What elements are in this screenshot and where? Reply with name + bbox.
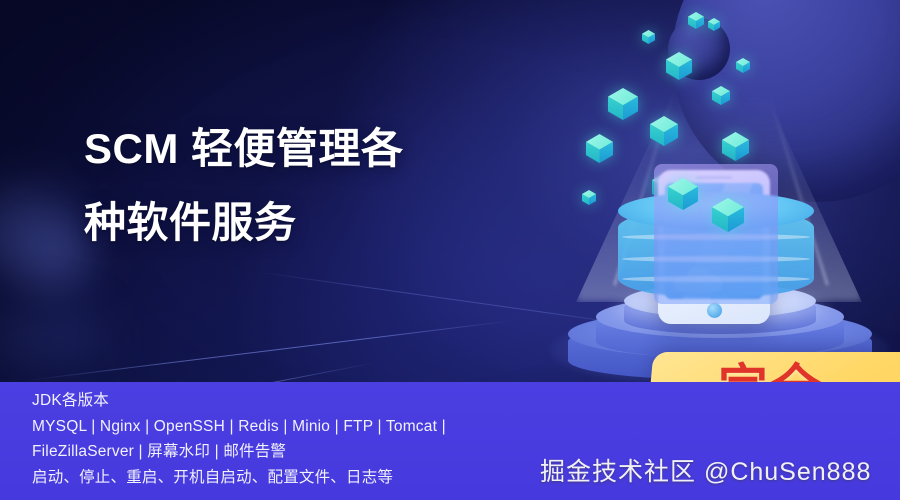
floating-cube-icon [608, 88, 638, 120]
floating-cube-icon [722, 132, 749, 161]
floating-cube-icon [688, 12, 704, 29]
phone-home-button [707, 303, 722, 318]
floating-cube-icon [712, 86, 730, 105]
floating-cube-icon [642, 30, 655, 44]
floating-cube-icon [668, 178, 698, 210]
floating-cube-icon [708, 18, 720, 31]
poster-headline: SCM 轻便管理各 种软件服务 [84, 112, 514, 260]
feature-line-1: JDK各版本 [32, 388, 446, 414]
feature-line-4: 启动、停止、重启、开机自启动、配置文件、日志等 [32, 465, 446, 491]
floating-cube-icon [666, 52, 692, 80]
floating-cube-icon [712, 198, 744, 232]
floating-cube-icon [736, 58, 750, 73]
feature-list: JDK各版本 MYSQL | Nginx | OpenSSH | Redis |… [32, 388, 446, 490]
feature-line-3: FileZillaServer | 屏幕水印 | 邮件告警 [32, 439, 446, 465]
poster-canvas: SCM 轻便管理各 种软件服务 [0, 0, 900, 500]
feature-line-2: MYSQL | Nginx | OpenSSH | Redis | Minio … [32, 414, 446, 440]
floating-cube-icon [582, 190, 596, 205]
floating-cube-icon [586, 134, 613, 163]
headline-line-1: SCM 轻便管理各 [84, 112, 514, 186]
watermark-text: 掘金技术社区 @ChuSen888 [540, 452, 871, 488]
floating-cube-icon [650, 116, 678, 146]
headline-line-2: 种软件服务 [84, 186, 514, 260]
hero-illustration [540, 0, 900, 390]
